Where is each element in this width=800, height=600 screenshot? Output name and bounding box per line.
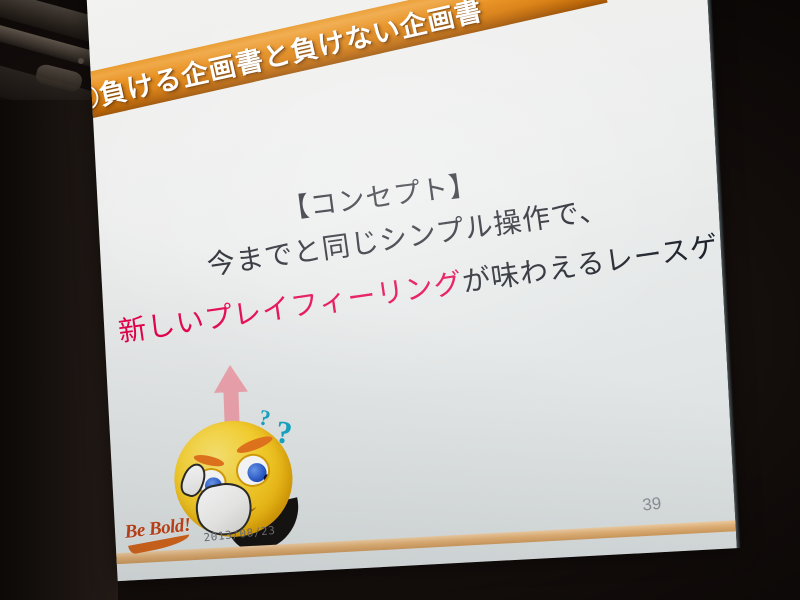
photo-canvas: ②負ける企画書と負けない企画書 【コンセプト】 今までと同じシンプル操作で、 新… bbox=[0, 0, 800, 600]
slide-surface: ②負ける企画書と負けない企画書 【コンセプト】 今までと同じシンプル操作で、 新… bbox=[86, 0, 737, 581]
projection-screen: ②負ける企画書と負けない企画書 【コンセプト】 今までと同じシンプル操作で、 新… bbox=[86, 0, 737, 585]
pupil-right bbox=[263, 473, 272, 482]
ceiling-fixture-dot bbox=[78, 58, 84, 64]
page-number: 39 bbox=[641, 494, 662, 516]
eye-right bbox=[233, 451, 273, 490]
iris-right bbox=[246, 461, 268, 483]
body-line-3-highlight: 新しいプレイフィーリング bbox=[116, 267, 464, 348]
